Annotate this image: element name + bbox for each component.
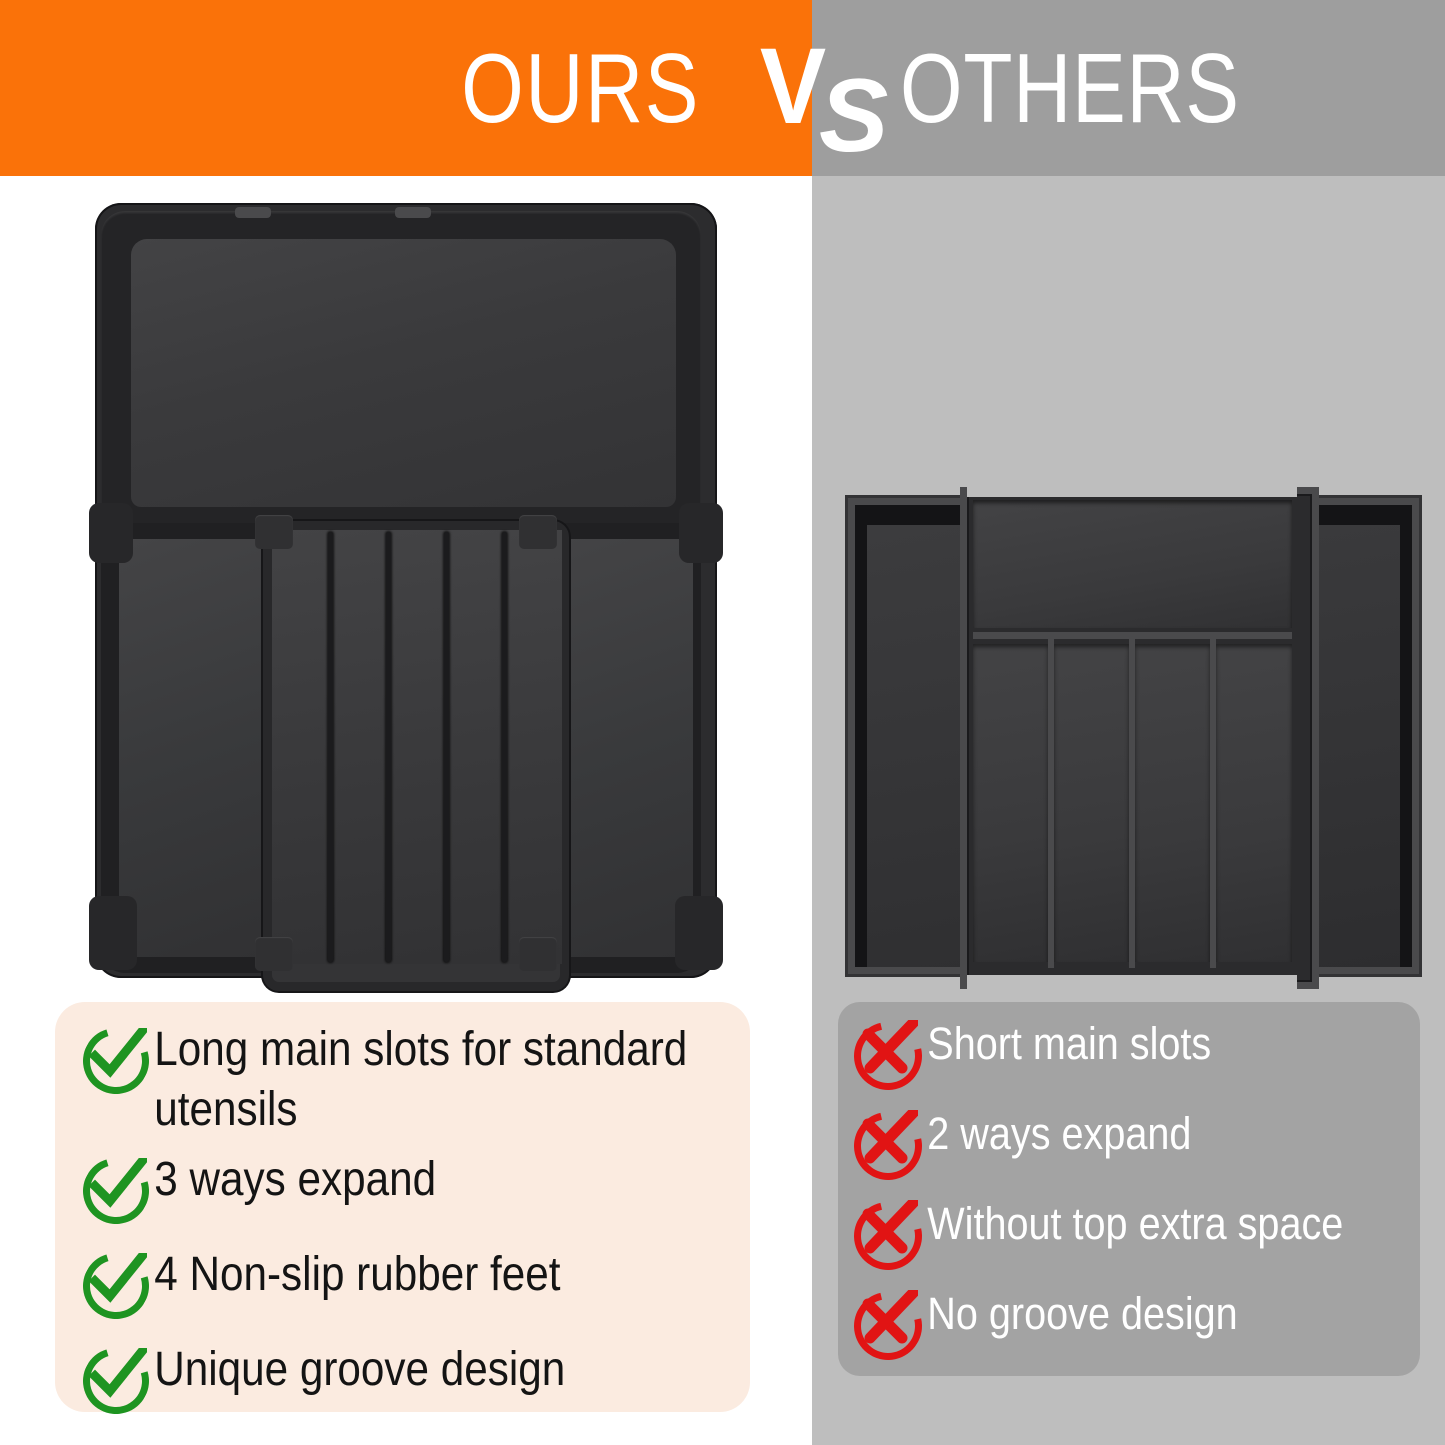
x-circle-icon [850,1196,922,1268]
check-circle-icon [77,1245,149,1317]
ours-feature-list-panel: Long main slots for standard utensils 3 … [55,1002,750,1412]
header-others-title: OTHERS [900,0,1326,176]
ours-top-compartment-well [131,239,676,507]
others-divider-1 [1048,638,1054,968]
x-mark-icon [856,1200,918,1258]
ours-insert-clip-top-right [519,515,557,549]
x-mark-icon [856,1110,918,1168]
ours-rubber-foot-top-left [89,503,133,563]
others-feature-label-2: 2 ways expand [922,1106,1420,1162]
ours-center-slot-insert [263,521,569,991]
others-feature-label-1: Short main slots [922,1016,1420,1072]
ours-divider-1 [328,532,333,962]
x-circle-icon [850,1016,922,1088]
ours-feature-label-4: Unique groove design [149,1340,682,1400]
ours-divider-2 [386,532,391,962]
others-feature-list: Short main slots 2 ways expand [838,1002,1420,1376]
ours-rubber-foot-bottom-left [89,896,137,970]
comparison-infographic: OURS OTHERS V S [0,0,1445,1445]
check-circle-icon [77,1020,149,1092]
ours-feature-label-3: 4 Non-slip rubber feet [149,1245,682,1305]
ours-feature-item-1: Long main slots for standard utensils [77,1020,845,1140]
ours-divider-4 [502,532,507,962]
ours-insert-clip-bottom-left [255,937,293,971]
ours-insert-clip-top-left [255,515,293,549]
others-feature-item-2: 2 ways expand [850,1106,1445,1178]
others-center-insert [960,487,1319,989]
check-circle-icon [77,1340,149,1412]
ours-slot-1 [272,530,330,964]
ours-insert-clip-bottom-right [519,937,557,971]
ours-feature-list: Long main slots for standard utensils 3 … [55,1002,750,1412]
ours-top-nub-right [395,207,431,218]
x-mark-icon [856,1020,918,1078]
others-feature-item-1: Short main slots [850,1016,1445,1088]
others-slot-2 [1054,644,1129,962]
check-mark-icon [87,1253,147,1307]
ours-slot-3 [388,530,446,964]
others-top-compartment [973,500,1292,628]
ours-rubber-foot-bottom-right [675,896,723,970]
ours-left-wing-compartment [119,539,271,957]
vs-letter-s: S [819,64,888,168]
ours-slot-2 [330,530,388,964]
ours-feature-label-2: 3 ways expand [149,1150,647,1210]
ours-rubber-foot-top-right [679,503,723,563]
header-banner: OURS OTHERS V S [0,0,1445,176]
others-feature-label-3: Without top extra space [922,1196,1429,1252]
others-slot-1 [973,644,1048,962]
others-bottom-notch [967,975,1297,993]
others-slot-4 [1216,644,1292,962]
ours-feature-item-4: Unique groove design [77,1340,755,1412]
others-feature-list-panel: Short main slots 2 ways expand [838,1002,1420,1376]
ours-top-nub-left [235,207,271,218]
ours-slot-4 [446,530,504,964]
x-circle-icon [850,1286,922,1358]
check-mark-icon [87,1348,147,1402]
ours-product-image [95,203,717,978]
others-feature-item-3: Without top extra space [850,1196,1445,1268]
header-ours-title: OURS [126,0,700,176]
ours-feature-item-3: 4 Non-slip rubber feet [77,1245,755,1317]
others-slot-3 [1135,644,1210,962]
check-mark-icon [87,1158,147,1212]
vs-letter-v: V [760,32,826,140]
others-top-notch [967,481,1297,497]
ours-divider-3 [444,532,449,962]
ours-feature-item-2: 3 ways expand [77,1150,715,1222]
others-product-image [845,495,1422,977]
others-divider-2 [1129,638,1135,968]
others-feature-label-4: No groove design [922,1286,1420,1342]
x-mark-icon [856,1290,918,1348]
check-mark-icon [87,1028,147,1082]
ours-slot-5 [504,530,562,964]
check-circle-icon [77,1150,149,1222]
ours-feature-label-1: Long main slots for standard utensils [149,1020,761,1140]
x-circle-icon [850,1106,922,1178]
others-divider-3 [1210,638,1216,968]
header-vs-badge: V S [757,18,897,158]
others-feature-item-4: No groove design [850,1286,1445,1358]
